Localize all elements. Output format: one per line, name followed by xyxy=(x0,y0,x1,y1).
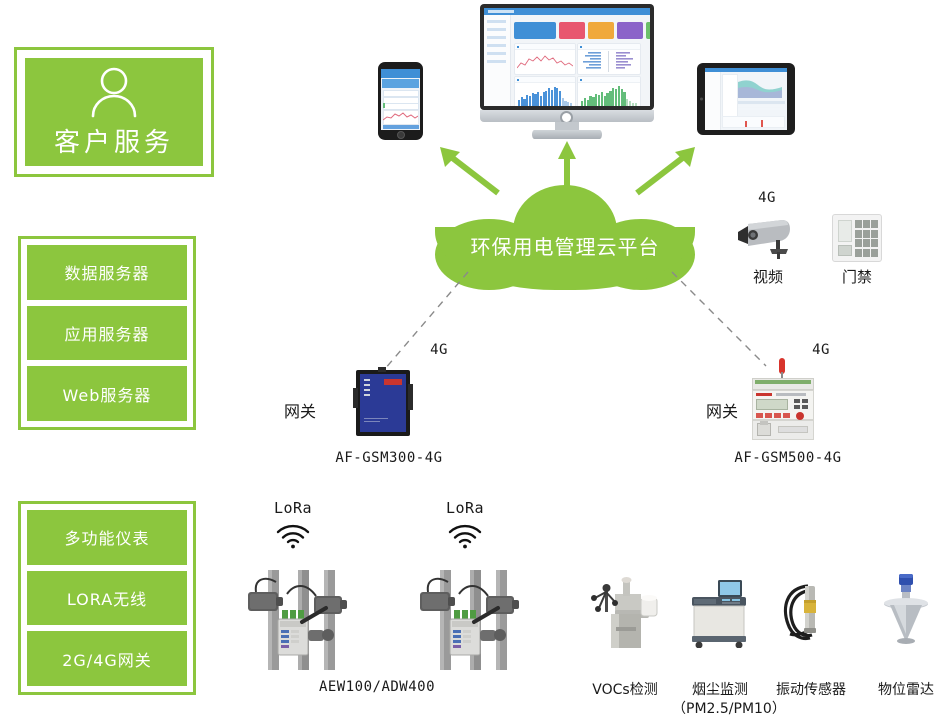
servers-panel: 数据服务器 应用服务器 Web服务器 xyxy=(18,236,196,430)
gateway-left-model: AF-GSM300-4G xyxy=(334,450,444,466)
kpi-card-4[interactable] xyxy=(617,22,643,39)
bar-series-blue xyxy=(518,85,572,106)
gateway-right-role-label: 网关 xyxy=(700,398,744,422)
radar-level-meter-icon[interactable] xyxy=(880,572,932,646)
kpi-card-5b[interactable] xyxy=(646,22,650,39)
field-devices-panel: 多功能仪表 LORA无线 2G/4G网关 xyxy=(18,501,196,695)
customer-service-label: 客户服务 xyxy=(54,122,174,159)
dashboard-sidebar xyxy=(484,15,511,106)
sensor-label-vocs: VOCs检测 xyxy=(577,679,673,699)
panel-tornado-chart[interactable] xyxy=(577,43,641,75)
gateway-blue-icon[interactable] xyxy=(356,370,410,436)
panel-bar-chart-green[interactable] xyxy=(577,76,641,106)
monitor-base xyxy=(532,130,602,139)
link-label-4g-camera: 4G xyxy=(752,190,782,206)
kpi-card-3[interactable] xyxy=(588,22,614,39)
lora-label-2: LoRa xyxy=(441,499,489,517)
sensor-label-radar: 物位雷达 xyxy=(858,679,944,699)
gateway-right-model: AF-GSM500-4G xyxy=(733,450,843,466)
kpi-card-1[interactable] xyxy=(514,22,556,39)
bar-series-green xyxy=(581,85,637,106)
link-label-4g-right: 4G xyxy=(806,342,836,358)
dashboard xyxy=(484,8,650,106)
camera-label: 视频 xyxy=(738,266,798,287)
field-item-2g-4g-gateway[interactable]: 2G/4G网关 xyxy=(27,631,187,686)
field-item-lora-wireless[interactable]: LORA无线 xyxy=(27,571,187,626)
door-access-label: 门禁 xyxy=(827,266,887,287)
cloud-platform-label: 环保用电管理云平台 xyxy=(435,231,695,260)
phone-home-button[interactable] xyxy=(397,131,405,139)
sensor-label-vibration: 振动传感器 xyxy=(763,679,859,699)
server-item-web[interactable]: Web服务器 xyxy=(27,366,187,421)
dashboard-header-bar xyxy=(484,8,650,15)
customer-service-panel: 客户服务 xyxy=(14,47,214,177)
sensor-label-dust: 烟尘监测 xyxy=(672,679,768,699)
cctv-camera-icon[interactable] xyxy=(736,216,798,260)
field-item-multifunction-meter[interactable]: 多功能仪表 xyxy=(27,510,187,565)
wifi-icon xyxy=(448,523,482,549)
lora-label-1: LoRa xyxy=(269,499,317,517)
phone-screen xyxy=(381,69,420,130)
monitor-bezel xyxy=(480,4,654,110)
cloud-platform[interactable]: 环保用电管理云平台 xyxy=(435,185,695,290)
wifi-icon xyxy=(276,523,310,549)
meter-model-label: AEW100/ADW400 xyxy=(287,679,467,695)
link-label-4g-left: 4G xyxy=(424,342,454,358)
sensor-sublabel-dust: （PM2.5/PM10） xyxy=(672,698,768,718)
meter-rig-icon[interactable] xyxy=(412,570,532,670)
dust-monitor-icon[interactable] xyxy=(688,578,750,648)
gateway-left-role-label: 网关 xyxy=(278,398,322,422)
desktop-monitor[interactable] xyxy=(480,4,654,136)
monitor-screen xyxy=(484,8,650,106)
vocs-monitor-icon[interactable] xyxy=(585,572,665,652)
meter-rig-icon[interactable] xyxy=(240,570,360,670)
server-item-data[interactable]: 数据服务器 xyxy=(27,245,187,300)
gateway-white-din-icon[interactable] xyxy=(752,358,814,440)
kpi-card-2[interactable] xyxy=(559,22,585,39)
access-control-keypad-icon[interactable] xyxy=(832,214,882,262)
mobile-phone[interactable] xyxy=(378,62,423,140)
dashed-link-cloud-to-gateway-left xyxy=(380,270,470,375)
panel-bar-chart-blue[interactable] xyxy=(514,76,576,106)
panel-line-chart[interactable] xyxy=(514,43,576,75)
customer-service-box: 客户服务 xyxy=(25,58,203,166)
person-icon xyxy=(87,66,141,118)
tablet[interactable] xyxy=(697,63,795,135)
server-item-application[interactable]: 应用服务器 xyxy=(27,306,187,361)
tablet-screen xyxy=(705,68,787,130)
tablet-home-button[interactable] xyxy=(700,98,703,101)
vibration-sensor-icon[interactable] xyxy=(778,580,838,646)
